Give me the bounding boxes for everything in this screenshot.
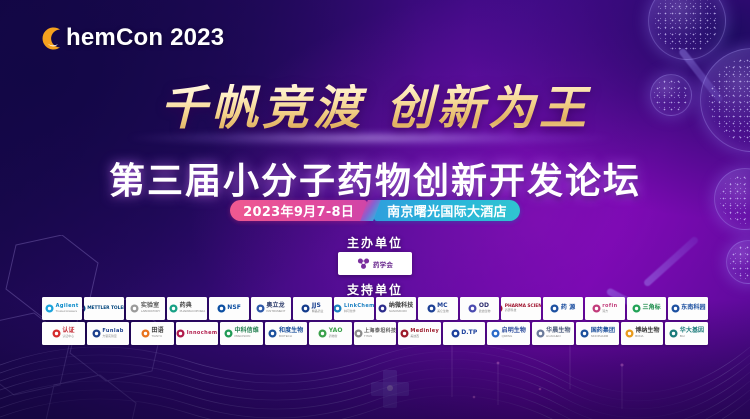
sponsor-subtitle: 精晶药业 [312,310,324,313]
sponsor-card[interactable]: 实验室LABORATORY [126,297,166,320]
sponsor-card[interactable]: Funlab方恩实验室 [87,322,130,345]
sponsor-subtitle: SINOPHARM [591,335,615,338]
sponsor-logo-text: 启明生物QIMING [502,328,526,338]
sponsor-name: METTLER TOLEDO [87,306,123,311]
sponsor-logo-text: 药典PHARMACOPOEIA [180,303,206,313]
sponsor-name: 三角标 [642,305,660,312]
sponsor-logo-text: 实验室LABORATORY [141,303,160,313]
sponsor-card[interactable]: D.TP [443,322,486,345]
blue-badge-icon [580,325,589,343]
sponsor-name: 药 源 [561,305,575,312]
innochem-circle-icon [176,325,185,343]
sponsor-subtitle: TIANYU [151,335,163,338]
sponsor-subtitle: Trusted Answers [56,310,79,313]
sponsor-logo-text: 和度生物BIOTECH [279,328,303,338]
sponsor-logo-text: rofin润方 [602,304,617,313]
pink-text-icon [592,300,601,318]
orange-circle-icon [625,325,634,343]
sponsor-logo-text: 中科信维PRECISION [234,328,258,338]
swirl-icon [378,300,387,318]
mettler-wordmark-icon [84,300,86,318]
sponsor-row: AgilentTrusted AnswersMETTLER TOLEDO实验室L… [42,297,708,320]
mc-wordmark-icon [427,300,436,318]
sponsor-subtitle: PHARMACOPOEIA [180,310,206,313]
dtp-wordmark-icon [451,325,460,343]
brand-logo[interactable]: hemCon 2023 [38,24,224,52]
crescent-gray-icon [536,325,545,343]
sponsor-logo-text: 华晨生物HUACHEN [546,328,570,338]
sponsor-card[interactable]: METTLER TOLEDO [84,297,124,320]
molecule-trimer-icon [357,257,370,270]
sponsor-logo-text: D.TP [461,330,477,337]
funlab-wordmark-icon [92,325,101,343]
sponsor-card[interactable]: 奥立龙INSTRUMENT [251,297,291,320]
sponsor-logo-text: Funlab方恩实验室 [102,329,123,338]
sponsor-card[interactable]: 田语TIANYU [131,322,174,345]
sponsor-subtitle: LABORATORY [141,310,160,313]
sponsor-subtitle: 美迪西 [410,335,439,338]
sponsor-card[interactable]: 纳微科技NANOMICRO [376,297,416,320]
sponsor-logo-text: METTLER TOLEDO [87,306,123,311]
sponsor-card[interactable]: LinkChem林可化学 [334,297,374,320]
molecule-sphere-icon [648,0,726,60]
event-info-row: 2023年9月7-8日 南京曙光国际大酒店 [0,200,750,221]
crescent-blue-icon [550,300,559,318]
linkchem-circle-icon [334,300,342,318]
sponsor-subtitle: TITAN [364,335,396,338]
building-icon [130,300,139,318]
sponsor-subtitle: 林可化学 [344,310,374,313]
yao-wordmark-icon [318,325,327,343]
sponsor-logo-text: OD欧迪生物 [479,303,491,313]
sponsor-subtitle: BONA [635,335,659,338]
sponsor-card[interactable]: AgilentTrusted Answers [42,297,82,320]
sponsor-card[interactable]: 华大基因BGI [665,322,708,345]
sponsor-logo-text: Medinley美迪西 [410,329,439,338]
sponsor-card[interactable]: 启明生物QIMING [487,322,530,345]
sponsor-card[interactable]: Innochem [176,322,219,345]
host-section-label: 主办单位 [0,234,750,251]
sponsor-subtitle: QIMING [502,335,526,338]
hero-slogan: 千帆竞渡创新为王 [0,84,750,133]
sponsor-subtitle: 欧迪生物 [479,310,491,313]
sponsor-logo-text: 认证认证中心 [62,328,74,338]
blue-dot-icon [491,325,500,343]
sponsor-card[interactable]: YAO药物新 [309,322,352,345]
jjs-wordmark-icon [301,300,310,318]
sponsor-logo-text: 药 源 [561,305,575,312]
green-layers-icon [224,325,233,343]
sponsor-logo-text: JJS精晶药业 [312,303,324,313]
host-logo-name: 药学会 [373,259,393,269]
sponsor-card[interactable]: 认证认证中心 [42,322,85,345]
sponsor-subtitle: 药物新 [329,335,343,338]
sponsor-logo-text: Innochem [187,331,218,337]
sponsor-logo-text: 奥立龙INSTRUMENT [266,303,285,313]
nsf-circle-icon [217,300,226,318]
sponsor-card[interactable]: 华晨生物HUACHEN [532,322,575,345]
host-logo-card[interactable]: 药学会 [338,252,412,275]
sponsor-subtitle: 方恩实验室 [102,335,123,338]
sponsor-card[interactable]: rofin润方 [585,297,625,320]
sponsor-subtitle: 美仑生物 [437,310,449,313]
sponsor-subtitle: INSTRUMENT [266,310,285,313]
plus-cross-icon [369,368,411,410]
blue-snowflake-icon [256,300,265,318]
orange-triangle-icon [141,325,150,343]
sponsor-card[interactable]: PHARMA SCIENCE药研科技 [501,297,541,320]
sponsor-card[interactable]: OD欧迪生物 [460,297,500,320]
sponsor-subtitle: NANOMICRO [389,310,413,313]
sponsor-logo-text: 纳微科技NANOMICRO [389,303,413,313]
sponsor-subtitle: BIOTECH [279,335,303,338]
sponsor-logo-text: 三角标 [642,305,660,312]
sponsor-logo-text: AgilentTrusted Answers [56,304,79,313]
sponsor-row: 认证认证中心Funlab方恩实验室田语TIANYUInnochem中科信维PRE… [42,322,708,345]
teal-text-icon [669,325,678,343]
event-venue-badge: 南京曙光国际大酒店 [374,200,520,221]
sponsor-subtitle: 润方 [602,310,617,313]
sponsor-card[interactable]: JJS精晶药业 [293,297,333,320]
text-logo-icon [501,300,503,318]
sponsor-logo-text: 国药集团SINOPHARM [591,328,615,338]
sponsor-card[interactable]: 药 源 [543,297,583,320]
sponsor-card[interactable]: Medinley美迪西 [398,322,441,345]
slogan-right: 创新为王 [386,81,590,136]
green-blue-triangle-icon [632,300,641,318]
sponsor-logo-text: 博纳生物BONA [635,328,659,338]
conference-poster: hemCon 2023 千帆竞渡创新为王 第三届小分子药物创新开发论坛 2023… [0,0,750,419]
sponsor-logo-text: 田语TIANYU [151,328,163,338]
sponsor-logo-text: 华大基因BGI [680,328,704,338]
sponsor-name: D.TP [461,330,477,337]
sponsor-card[interactable]: 药典PHARMACOPOEIA [167,297,207,320]
gray-leaf-icon [354,325,363,343]
sponsor-logo-text: 上海泰坦科技TITAN [364,329,396,338]
support-section-label: 支持单位 [0,281,750,298]
sponsor-name: 东南科园 [681,305,705,312]
sponsor-card[interactable]: NSF [209,297,249,320]
brand-title: hemCon 2023 [66,24,224,52]
sponsor-card[interactable]: MC美仑生物 [418,297,458,320]
slogan-left: 千帆竞渡 [160,81,364,136]
sponsor-name: Innochem [187,331,218,337]
blue-grid-icon [268,325,277,343]
sponsor-card[interactable]: 三角标 [627,297,667,320]
sponsor-card[interactable]: 上海泰坦科技TITAN [354,322,397,345]
sponsor-logo-text: LinkChem林可化学 [344,304,374,313]
crescent-c-icon [38,25,65,52]
red-check-icon [52,325,61,343]
sponsor-name: NSF [227,305,241,312]
sponsor-logo-text: MC美仑生物 [437,303,449,313]
agilent-starburst-icon [45,300,54,318]
sponsor-logo-grid: AgilentTrusted AnswersMETTLER TOLEDO实验室L… [42,297,708,347]
green-capsule-icon [169,300,178,318]
sponsor-card[interactable]: 博纳生物BONA [621,322,664,345]
sponsor-subtitle: HUACHEN [546,335,570,338]
forum-subtitle: 第三届小分子药物创新开发论坛 [0,152,750,204]
sponsor-card[interactable]: 中科信维PRECISION [220,322,263,345]
sponsor-subtitle: 认证中心 [62,335,74,338]
sponsor-card[interactable]: 和度生物BIOTECH [265,322,308,345]
event-date-badge: 2023年9月7-8日 [230,200,367,221]
blue-square-icon [671,300,680,318]
sponsor-subtitle: PRECISION [234,335,258,338]
sponsor-logo-text: PHARMA SCIENCE药研科技 [505,304,541,312]
sponsor-logo-text: 东南科园 [681,305,705,312]
sponsor-card[interactable]: 国药集团SINOPHARM [576,322,619,345]
red-block-icon [400,325,409,343]
sponsor-card[interactable]: 东南科园 [668,297,708,320]
od-circle-icon [468,300,477,318]
sponsor-logo-text: NSF [227,305,241,312]
sponsor-subtitle: BGI [680,335,704,338]
sponsor-subtitle: 药研科技 [505,309,541,312]
sponsor-logo-text: YAO药物新 [329,328,343,338]
